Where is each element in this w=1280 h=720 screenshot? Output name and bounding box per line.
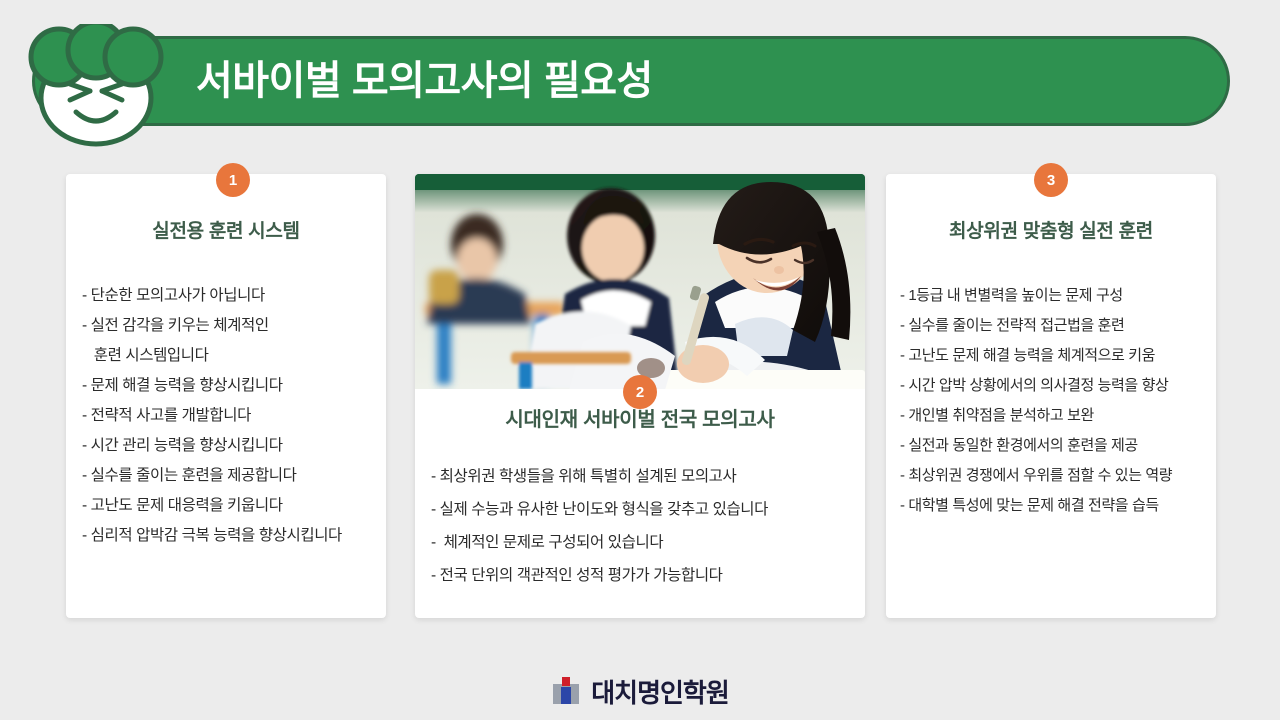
list-item: - 시간 압박 상황에서의 의사결정 능력을 향상: [900, 371, 1216, 401]
list-item: - 개인별 취약점을 분석하고 보완: [900, 401, 1216, 431]
list-item: - 실전 감각을 키우는 체계적인: [82, 311, 386, 341]
list-item: - 고난도 문제 해결 능력을 체계적으로 키움: [900, 341, 1216, 371]
list-item: - 심리적 압박감 극복 능력을 향상시킵니다: [82, 521, 386, 551]
list-item: - 체계적인 문제로 구성되어 있습니다: [431, 526, 865, 559]
list-item: - 실수를 줄이는 전략적 접근법을 훈련: [900, 311, 1216, 341]
list-item: - 1등급 내 변별력을 높이는 문제 구성: [900, 281, 1216, 311]
list-item: - 실제 수능과 유사한 난이도와 형식을 갖추고 있습니다: [431, 493, 865, 526]
card-title-3: 최상위권 맞춤형 실전 훈련: [886, 216, 1216, 243]
card-title-1: 실전용 훈련 시스템: [66, 216, 386, 243]
list-item: - 고난도 문제 대응력을 키웁니다: [82, 491, 386, 521]
list-item: - 실전과 동일한 환경에서의 훈련을 제공: [900, 431, 1216, 461]
list-item: - 전국 단위의 객관적인 성적 평가가 가능합니다: [431, 559, 865, 592]
slide-header: 서바이벌 모의고사의 필요성: [0, 14, 1252, 134]
card-bullets-2: - 최상위권 학생들을 위해 특별히 설계된 모의고사 - 실제 수능과 유사한…: [431, 460, 865, 592]
card-top-tier-custom-training: 최상위권 맞춤형 실전 훈련 - 1등급 내 변별력을 높이는 문제 구성 - …: [886, 174, 1216, 618]
page-title: 서바이벌 모의고사의 필요성: [196, 60, 653, 102]
list-item: - 문제 해결 능력을 향상시킵니다: [82, 371, 386, 401]
list-item: - 전략적 사고를 개발합니다: [82, 401, 386, 431]
list-item: - 시간 관리 능력을 향상시킵니다: [82, 431, 386, 461]
card-badge-2: 2: [623, 375, 657, 409]
card-badge-3: 3: [1034, 163, 1068, 197]
card-badge-1: 1: [216, 163, 250, 197]
card-practical-training-system: 실전용 훈련 시스템 - 단순한 모의고사가 아닙니다 - 실전 감각을 키우는…: [66, 174, 386, 618]
mascot-icon: [12, 24, 180, 148]
list-item: - 최상위권 경쟁에서 우위를 점할 수 있는 역량: [900, 461, 1216, 491]
list-item: - 실수를 줄이는 훈련을 제공합니다: [82, 461, 386, 491]
slide-footer: 대치명인학원: [0, 668, 1280, 714]
academy-logo-icon: [551, 676, 581, 706]
list-item: - 최상위권 학생들을 위해 특별히 설계된 모의고사: [431, 460, 865, 493]
list-item: 훈련 시스템입니다: [82, 341, 386, 371]
card-bullets-1: - 단순한 모의고사가 아닙니다 - 실전 감각을 키우는 체계적인 훈련 시스…: [82, 281, 386, 551]
list-item: - 대학별 특성에 맞는 문제 해결 전략을 습득: [900, 491, 1216, 521]
slide-root: 서바이벌 모의고사의 필요성 1 실전용 훈련 시스템 - 단순한 모의고사가 …: [0, 0, 1280, 720]
academy-logo-text: 대치명인학원: [591, 673, 729, 710]
classroom-students-photo: [415, 174, 865, 389]
card-bullets-3: - 1등급 내 변별력을 높이는 문제 구성 - 실수를 줄이는 전략적 접근법…: [900, 281, 1216, 521]
list-item: - 단순한 모의고사가 아닙니다: [82, 281, 386, 311]
